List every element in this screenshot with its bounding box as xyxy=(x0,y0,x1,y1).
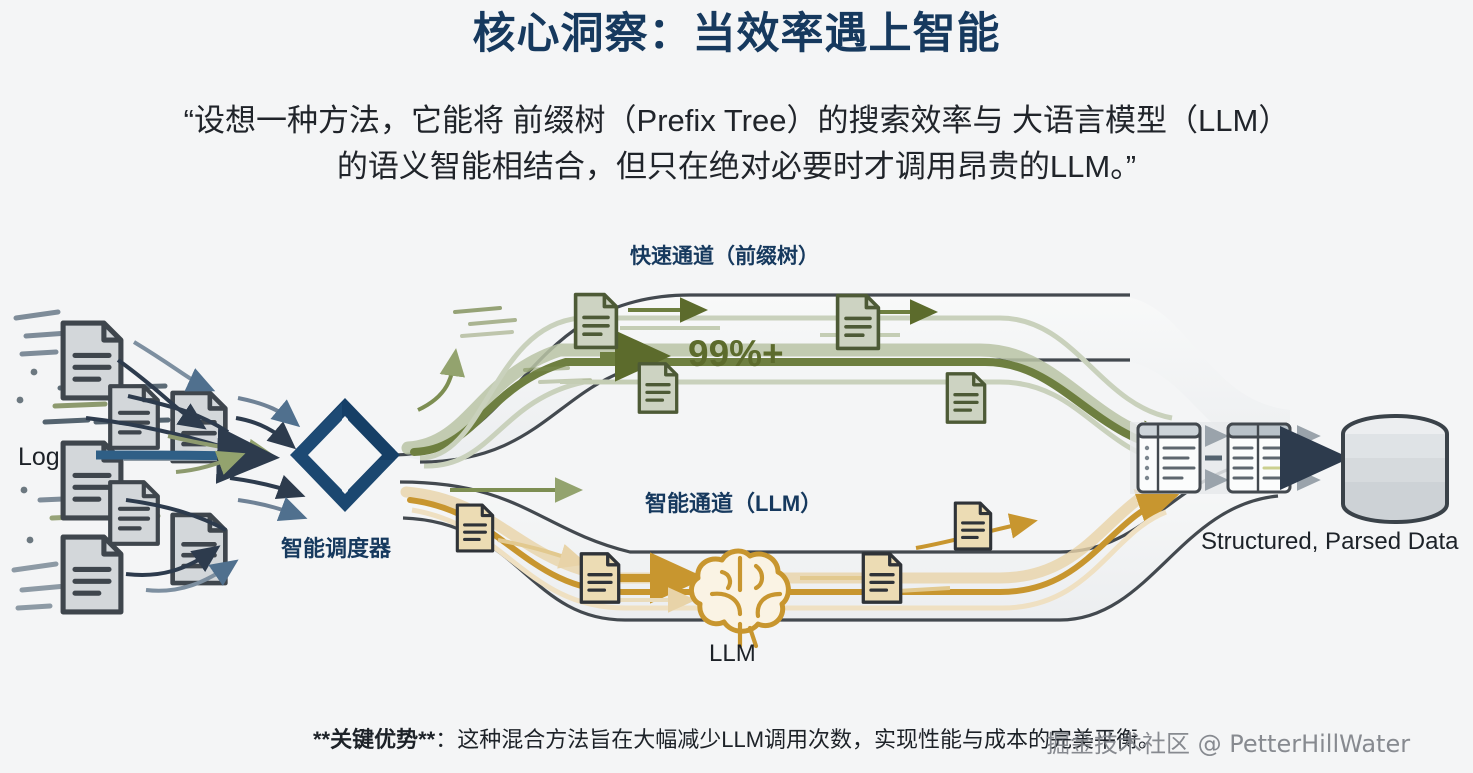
table-grid-icon xyxy=(1228,424,1290,492)
document-icon xyxy=(947,374,984,422)
scheduler-diamond-icon xyxy=(290,398,400,512)
brain-icon xyxy=(691,551,788,646)
output-arrow-block xyxy=(1130,422,1330,494)
scheduler-label: 智能调度器 xyxy=(281,531,391,563)
document-icon xyxy=(581,554,618,602)
subtitle-line-1: “设想一种方法，它能将 前缀树（Prefix Tree）的搜索效率与 大语言模型… xyxy=(72,98,1402,144)
document-icon xyxy=(955,503,990,549)
document-icon xyxy=(639,364,676,412)
smart-lane-label: 智能通道（LLM） xyxy=(645,486,822,518)
fast-lane-label: 快速通道（前缀树） xyxy=(630,240,819,270)
document-icon xyxy=(576,295,617,348)
input-log-label: Log xyxy=(18,443,60,472)
document-icon xyxy=(838,296,879,349)
document-icon xyxy=(863,554,900,602)
pipeline-diagram xyxy=(0,200,1473,700)
database-cylinder-icon xyxy=(1343,416,1447,522)
watermark: 掘金技术社区 @ PetterHillWater xyxy=(1046,724,1410,759)
table-grid-icon xyxy=(1138,424,1200,492)
output-label: Structured, Parsed Data xyxy=(1201,528,1458,556)
page-subtitle: “设想一种方法，它能将 前缀树（Prefix Tree）的搜索效率与 大语言模型… xyxy=(72,98,1402,190)
footer-caption-bold: **关键优势** xyxy=(313,727,435,752)
fast-lane-metric: 99%+ xyxy=(688,333,784,375)
subtitle-line-2: 的语义智能相结合，但只在绝对必要时才调用昂贵的LLM。” xyxy=(72,144,1402,190)
page-title: 核心洞察：当效率遇上智能 xyxy=(0,8,1473,62)
llm-label: LLM xyxy=(709,640,756,668)
slide-canvas: 核心洞察：当效率遇上智能 “设想一种方法，它能将 前缀树（Prefix Tree… xyxy=(0,0,1473,773)
document-icon xyxy=(457,505,492,551)
